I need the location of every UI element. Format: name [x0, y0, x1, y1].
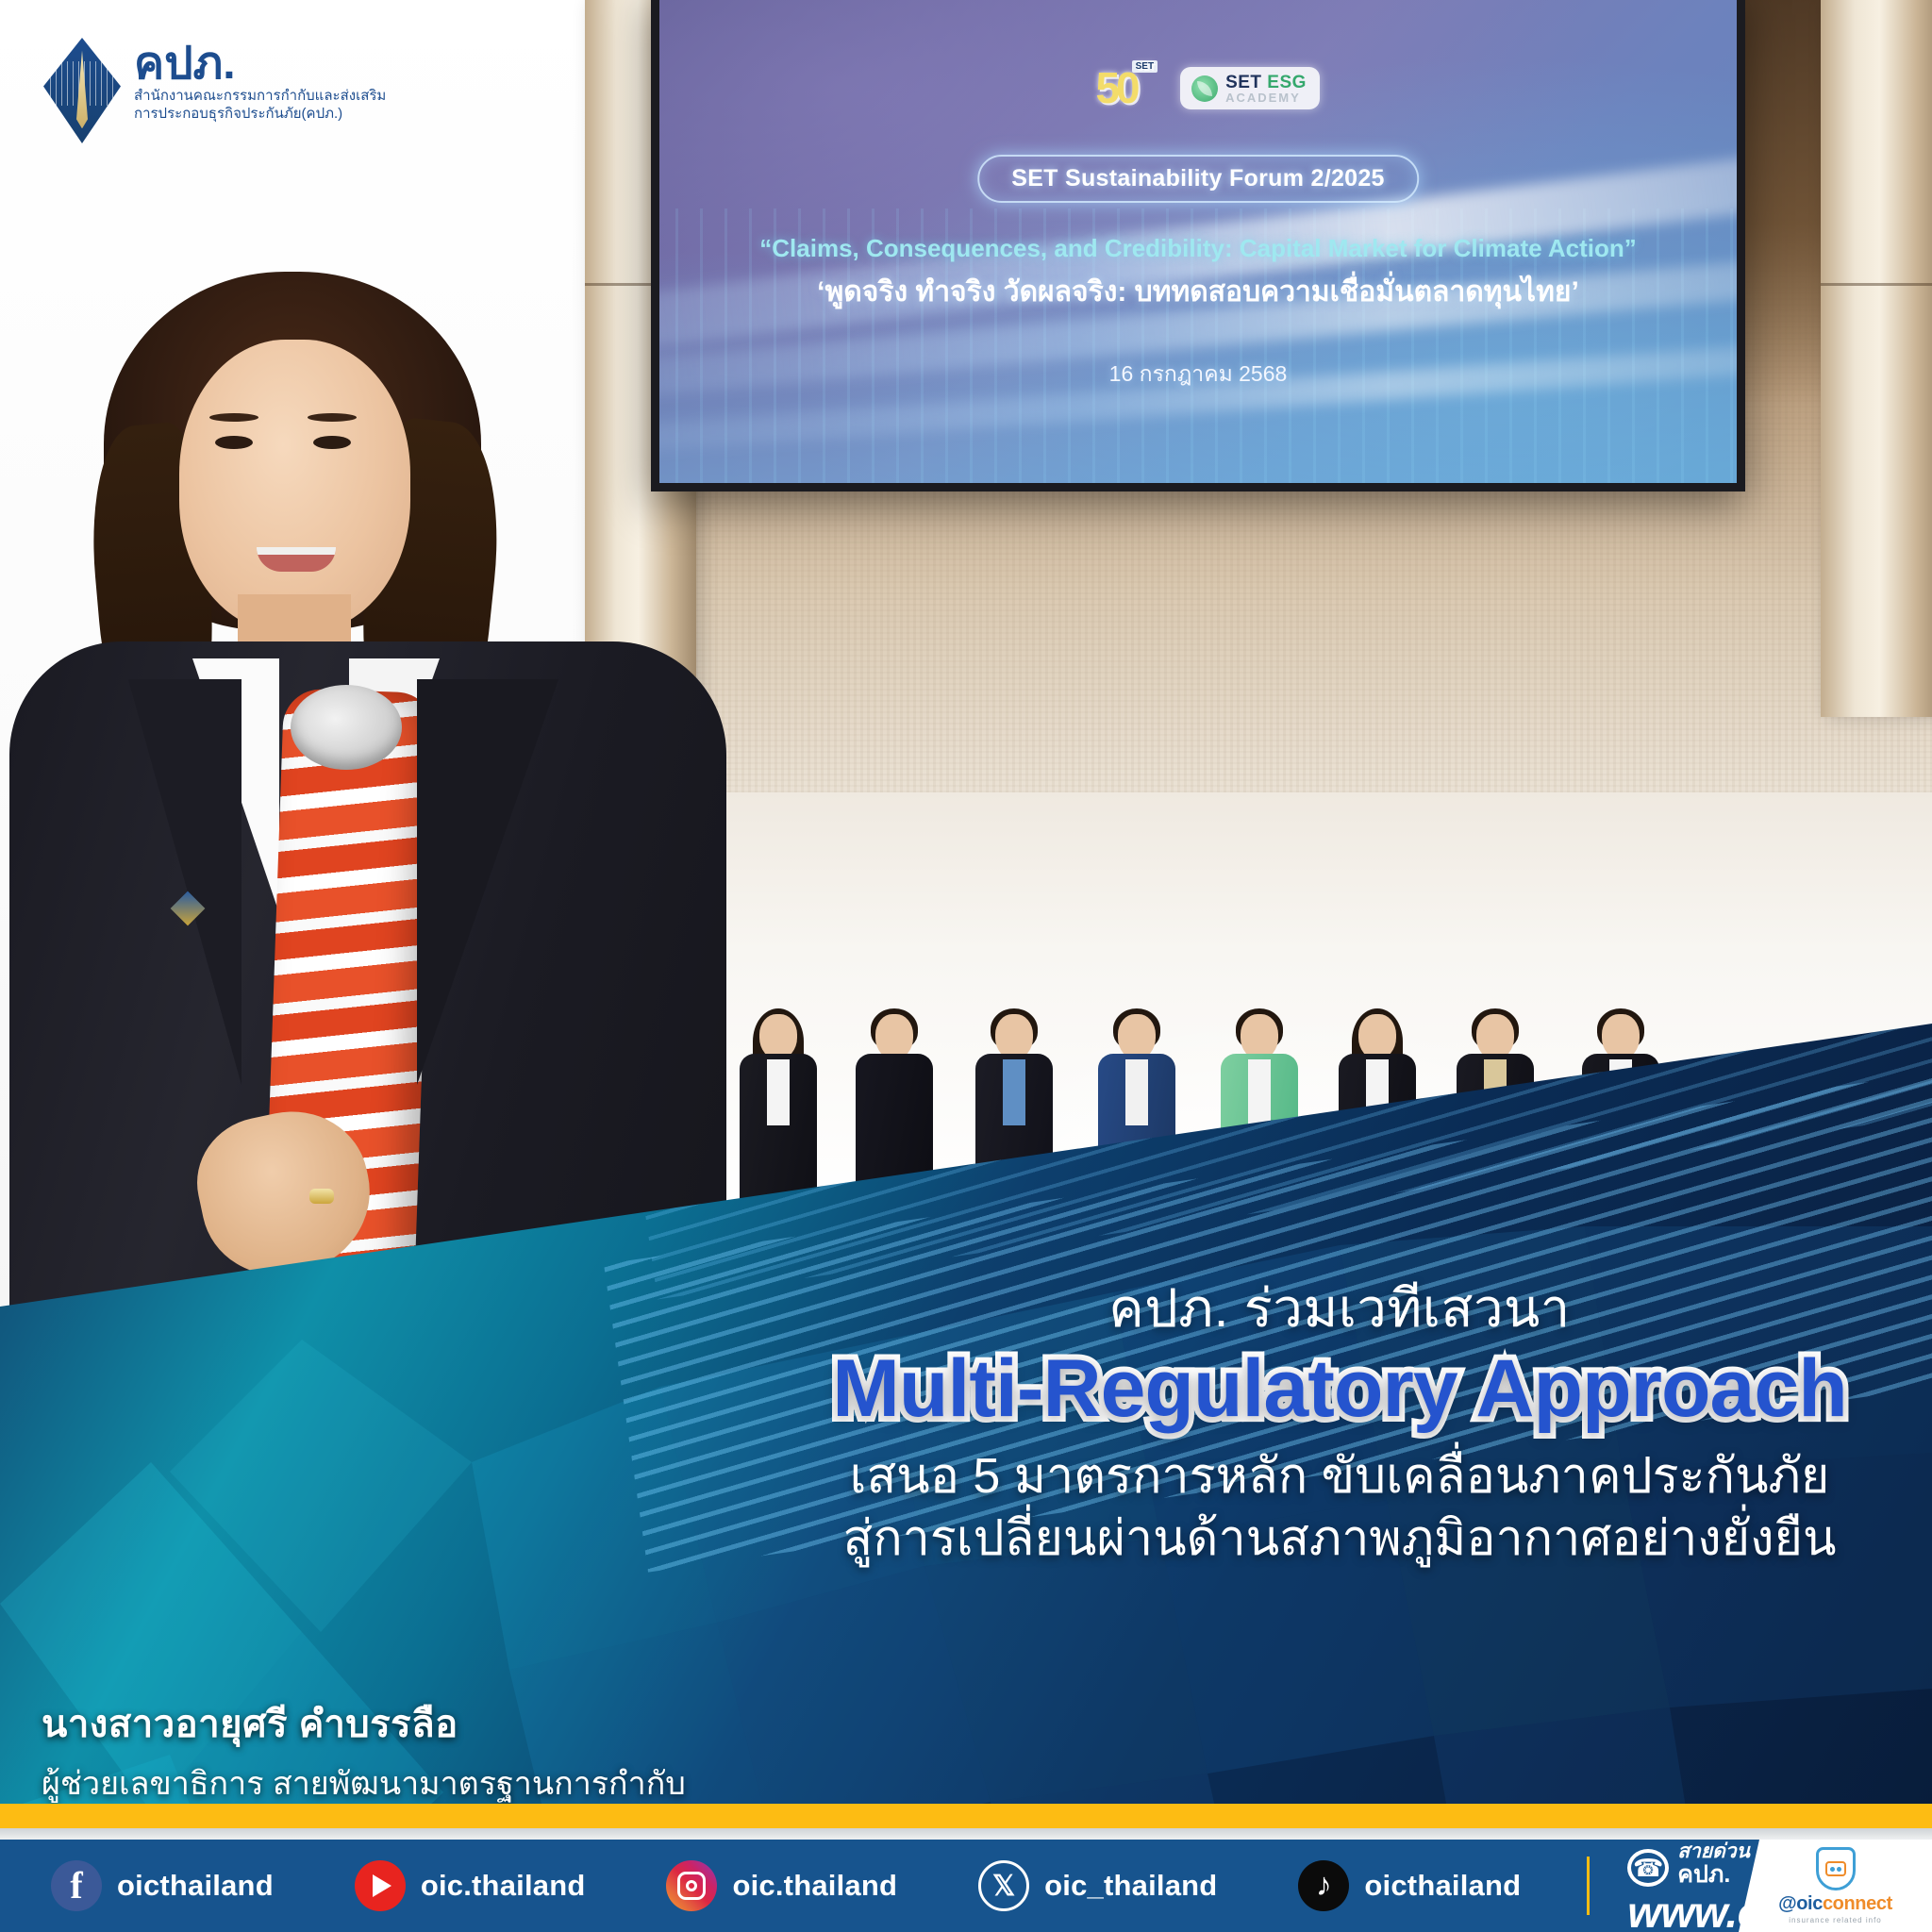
- speaker-face: [179, 340, 410, 632]
- oic-org-line-2: การประกอบธุรกิจประกันภัย(คปภ.): [134, 105, 386, 123]
- headline-sub-line-1: เสนอ 5 มาตรการหลัก ขับเคลื่อนภาคประกันภั…: [783, 1445, 1896, 1508]
- oic-abbreviation: คปภ.: [134, 42, 386, 87]
- footer-divider: [1587, 1857, 1590, 1915]
- hotline-label-thai: สายด่วน: [1677, 1841, 1750, 1861]
- social-tiktok[interactable]: ♪ oicthailand: [1298, 1860, 1521, 1911]
- slide-date: 16 กรกฎาคม 2568: [651, 358, 1745, 391]
- tiktok-handle: oicthailand: [1364, 1869, 1521, 1903]
- oicconnect-handle: @oic: [1778, 1893, 1823, 1914]
- slide-title-english: “Claims, Consequences, and Credibility: …: [651, 234, 1745, 263]
- social-instagram[interactable]: oic.thailand: [666, 1860, 897, 1911]
- slide-forum-pill: SET Sustainability Forum 2/2025: [977, 155, 1419, 203]
- set-50-number: 50: [1095, 62, 1136, 113]
- instagram-icon[interactable]: [666, 1860, 717, 1911]
- esg-academy-word: ACADEMY: [1225, 92, 1307, 104]
- slide-logo-row: 50 SET SET ESG ACADEMY: [651, 58, 1745, 117]
- projector-screen: 50 SET SET ESG ACADEMY SET Sustainabilit…: [651, 0, 1745, 491]
- chatbot-shield-icon: [1816, 1847, 1856, 1890]
- oic-org-line-1: สำนักงานคณะกรรมการกำกับและส่งเสริม: [134, 87, 386, 105]
- tiktok-icon[interactable]: ♪: [1298, 1860, 1349, 1911]
- group-photo-people: [641, 524, 1755, 1014]
- phone-icon: [1627, 1849, 1669, 1887]
- hotline-org-abbr: คปภ.: [1677, 1863, 1750, 1887]
- x-twitter-icon[interactable]: 𝕏: [978, 1860, 1029, 1911]
- oicconnect-card[interactable]: @oicconnect insurance related info: [1739, 1840, 1932, 1932]
- headline-main: Multi-Regulatory Approach: [783, 1346, 1896, 1431]
- headline-block: คปภ. ร่วมเวทีเสวนา Multi-Regulatory Appr…: [783, 1278, 1896, 1571]
- oicconnect-tagline: insurance related info: [1789, 1916, 1882, 1924]
- oic-diamond-icon: [43, 38, 121, 143]
- social-facebook[interactable]: f oicthailand: [51, 1860, 274, 1911]
- headline-kicker: คปภ. ร่วมเวทีเสวนา: [783, 1278, 1896, 1339]
- oic-logo: คปภ. สำนักงานคณะกรรมการกำกับและส่งเสริม …: [43, 38, 386, 143]
- set-small-tag: SET: [1132, 60, 1158, 73]
- instagram-handle: oic.thailand: [732, 1869, 897, 1903]
- leaf-icon: [1191, 75, 1218, 102]
- speaker-name: นางสาวอายุศรี คำบรรลือ: [42, 1693, 686, 1754]
- set-esg-academy-logo: SET ESG ACADEMY: [1180, 67, 1320, 109]
- esg-word: ESG: [1267, 73, 1307, 92]
- esg-set-word: SET: [1225, 73, 1261, 92]
- poster-root: 50 SET SET ESG ACADEMY SET Sustainabilit…: [0, 0, 1932, 1932]
- oicconnect-word: connect: [1823, 1893, 1892, 1914]
- set-50th-anniversary-icon: 50 SET: [1076, 58, 1156, 117]
- youtube-icon[interactable]: [355, 1860, 406, 1911]
- pillar-right: [1821, 0, 1932, 717]
- youtube-handle: oic.thailand: [421, 1869, 586, 1903]
- x-handle: oic_thailand: [1044, 1869, 1217, 1903]
- social-x-twitter[interactable]: 𝕏 oic_thailand: [978, 1860, 1217, 1911]
- yellow-accent-bar: [0, 1804, 1932, 1828]
- speaker-caption: นางสาวอายุศรี คำบรรลือ ผู้ช่วยเลขาธิการ …: [42, 1693, 686, 1808]
- social-youtube[interactable]: oic.thailand: [355, 1860, 586, 1911]
- footer-bar: f oicthailand oic.thailand oic.thailand …: [0, 1840, 1932, 1932]
- speaker-role: ผู้ช่วยเลขาธิการ สายพัฒนามาตรฐานการกำกับ: [42, 1757, 686, 1808]
- slide-title-thai: ‘พูดจริง ทำจริง วัดผลจริง: บททดสอบความเช…: [651, 270, 1745, 314]
- facebook-handle: oicthailand: [117, 1869, 274, 1903]
- facebook-icon[interactable]: f: [51, 1860, 102, 1911]
- headline-sub-line-2: สู่การเปลี่ยนผ่านด้านสภาพภูมิอากาศอย่างย…: [783, 1507, 1896, 1571]
